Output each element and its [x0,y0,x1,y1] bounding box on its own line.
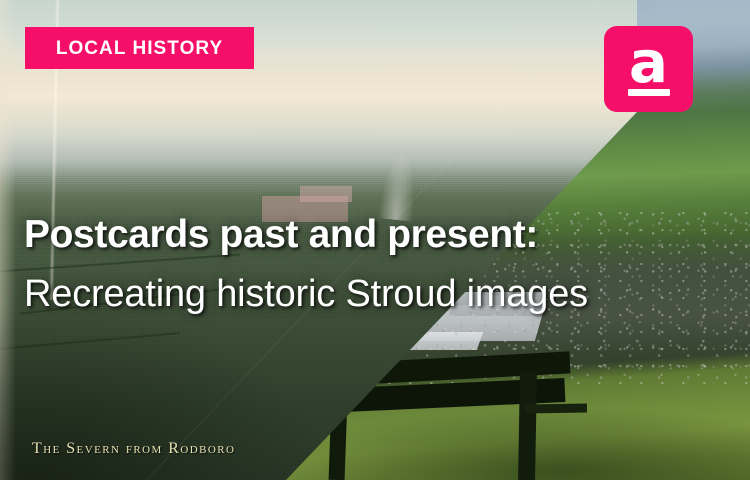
brand-logo[interactable]: a [604,26,693,112]
bench-leg-right [518,372,537,480]
headline-line-1: Postcards past and present: [24,212,724,258]
article-hero-banner: The Severn from Rodboro LOCAL HISTORY a … [0,0,750,480]
headline-line-2: Recreating historic Stroud images [24,270,724,318]
category-badge-label: LOCAL HISTORY [56,39,223,58]
page-title: Postcards past and present: Recreating h… [24,212,724,318]
bench-rail [525,403,587,413]
brand-logo-letter: a [629,40,668,85]
brand-logo-underline [628,89,670,96]
postcard-caption: The Severn from Rodboro [32,440,235,458]
category-badge[interactable]: LOCAL HISTORY [25,27,254,69]
